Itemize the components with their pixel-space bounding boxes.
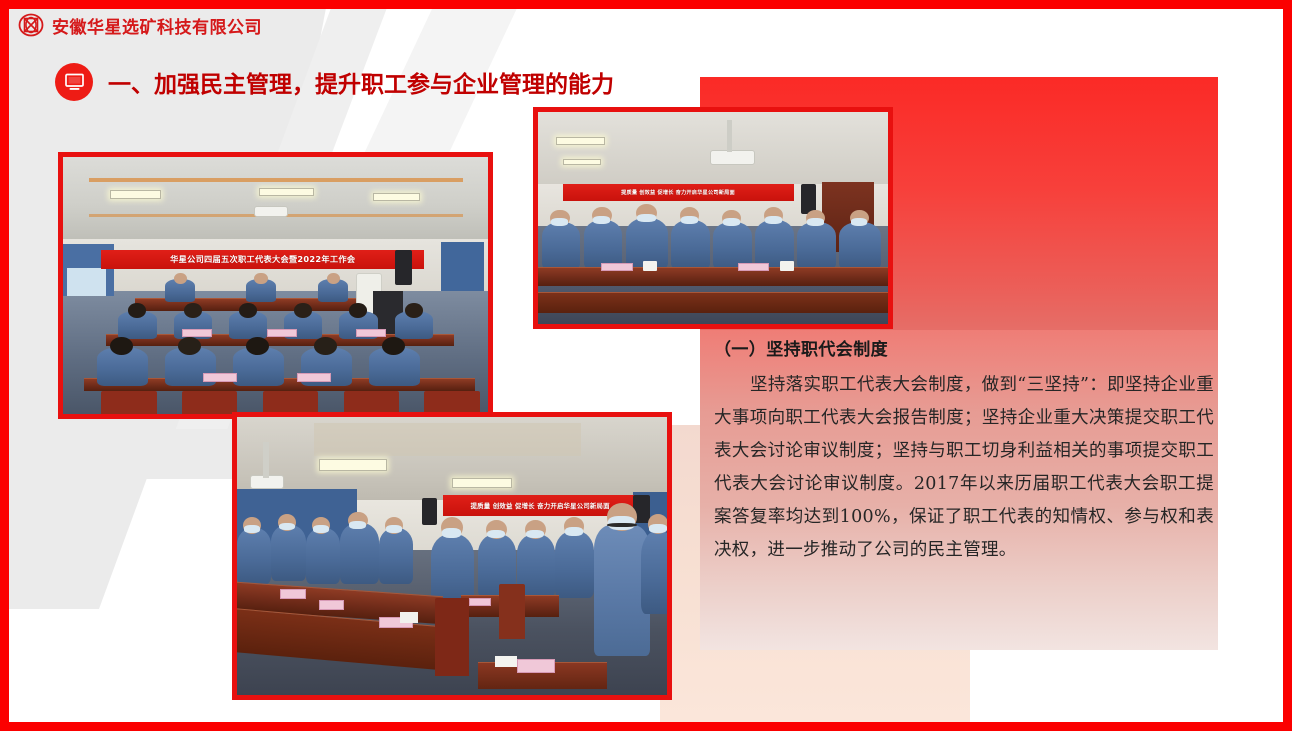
- body-text-block: （一）坚持职代会制度 坚持落实职工代表大会制度，做到“三坚持”：即坚持企业重大事…: [714, 335, 1214, 567]
- frame-border-right: [1283, 0, 1292, 731]
- photo-nameplate: [469, 598, 491, 606]
- photo-nameplate: [267, 329, 297, 337]
- photo-nameplate: [738, 263, 770, 271]
- slide-header: 安徽华星选矿科技有限公司: [9, 9, 1283, 41]
- section-heading-label: 一、加强民主管理，提升职工参与企业管理的能力: [108, 65, 614, 99]
- photo-nameplate: [517, 659, 556, 673]
- frame-border-top: [0, 0, 1292, 9]
- photo-congress-assembly[interactable]: 华星公司四届五次职工代表大会暨2022年工作会: [58, 152, 493, 419]
- photo-nameplate: [319, 600, 345, 610]
- frame-border-bottom: [0, 722, 1292, 731]
- photo-standing-delegates[interactable]: 提质量 创效益 促增长 奋力开启华星公司新局面: [533, 107, 893, 329]
- photo-nameplate: [601, 263, 633, 271]
- section-heading: 一、加强民主管理，提升职工参与企业管理的能力: [55, 63, 614, 101]
- slide-root: 安徽华星选矿科技有限公司 一、加强民主管理，提升职工参与企业管理的能力: [0, 0, 1292, 731]
- photo-nameplate: [356, 329, 386, 337]
- photo-banner-text: 提质量 创效益 促增长 奋力开启华星公司新局面: [563, 184, 794, 201]
- monitor-icon: [55, 63, 93, 101]
- photo-banner-text: 华星公司四届五次职工代表大会暨2022年工作会: [101, 250, 424, 269]
- body-paragraph: 坚持落实职工代表大会制度，做到“三坚持”：即坚持企业重大事项向职工代表大会报告制…: [714, 369, 1214, 567]
- company-emblem-icon: [18, 13, 44, 37]
- photo-nameplate: [280, 589, 306, 599]
- frame-border-left: [0, 0, 9, 731]
- photo-nameplate: [182, 329, 212, 337]
- photo-delegates-standing-wide[interactable]: 提质量 创效益 促增长 奋力开启华星公司新局面: [232, 412, 672, 700]
- company-name-label: 安徽华星选矿科技有限公司: [52, 13, 262, 38]
- body-subtitle: （一）坚持职代会制度: [714, 335, 1214, 360]
